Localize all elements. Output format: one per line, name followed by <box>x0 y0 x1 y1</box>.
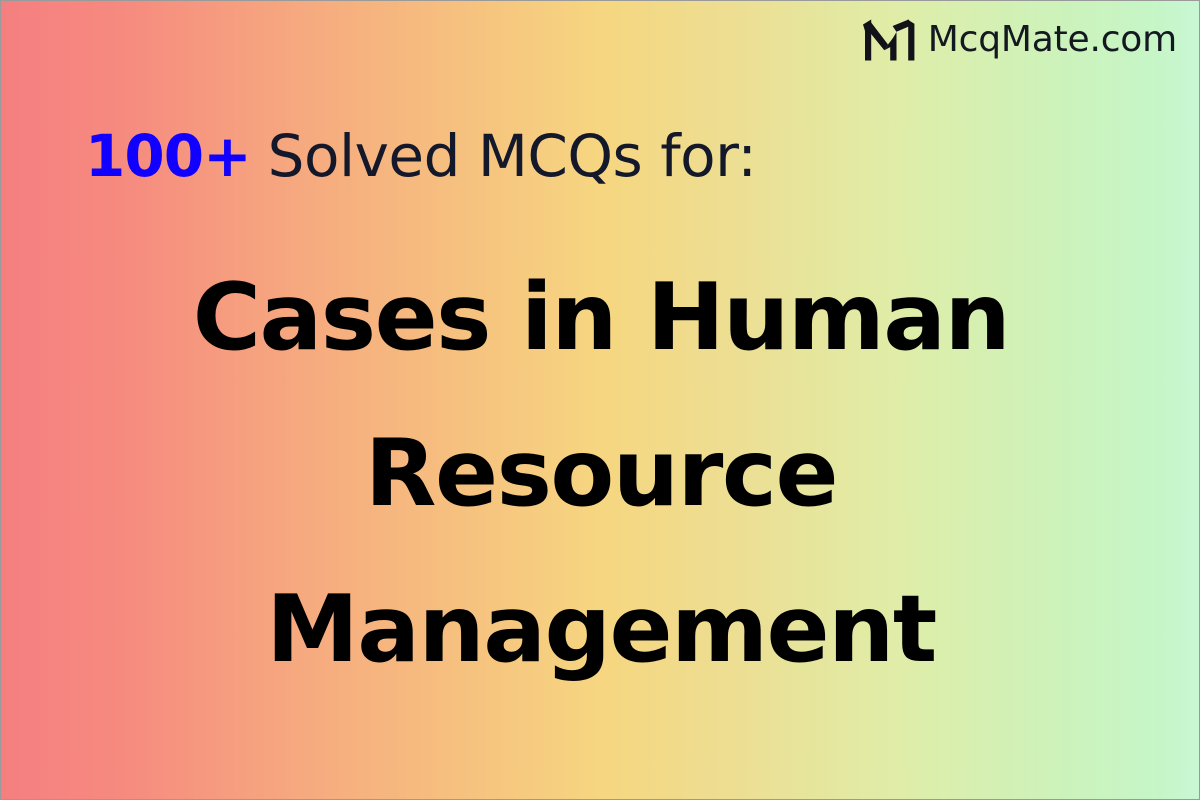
mcqmate-m-logo-icon <box>863 19 915 61</box>
subtitle-text: Solved MCQs for: <box>268 127 757 185</box>
title-line-1: Cases in Human <box>41 239 1161 395</box>
brand-name: McqMate.com <box>928 22 1177 58</box>
mcq-banner: McqMate.com 100+ Solved MCQs for: Cases … <box>0 0 1200 800</box>
title-line-3: Management <box>41 551 1161 707</box>
page-title: Cases in Human Resource Management <box>1 239 1200 707</box>
mcq-count-badge: 100+ <box>85 127 251 185</box>
title-line-2: Resource <box>41 395 1161 551</box>
subtitle: 100+ Solved MCQs for: <box>85 127 756 185</box>
brand-lockup[interactable]: McqMate.com <box>863 19 1177 61</box>
